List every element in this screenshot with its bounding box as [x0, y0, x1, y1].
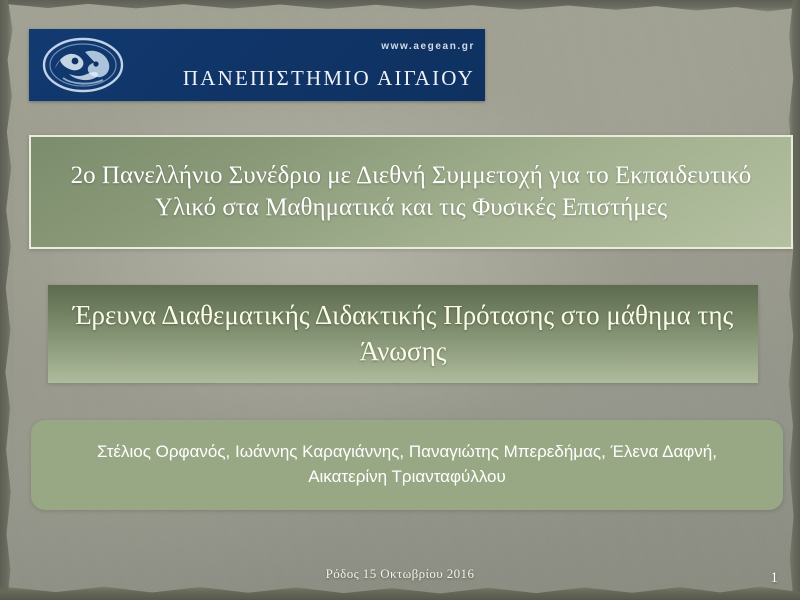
aegean-university-emblem-icon — [41, 34, 125, 96]
conference-title-text: 2ο Πανελλήνιο Συνέδριο με Διεθνή Συμμετο… — [31, 160, 791, 225]
university-wordmark: www.aegean.gr ΠΑΝΕΠΙΣΤΗΜΙΟ ΑΙΓΑΙΟΥ — [125, 29, 479, 101]
university-logo-banner: www.aegean.gr ΠΑΝΕΠΙΣΤΗΜΙΟ ΑΙΓΑΙΟΥ — [29, 29, 485, 101]
slide-number: 1 — [771, 570, 779, 587]
footer-place-date: Ρόδος 15 Οκτωβρίου 2016 — [0, 566, 800, 582]
presentation-title-box: Έρευνα Διαθεματικής Διδακτικής Πρότασης … — [48, 285, 758, 383]
university-website-url: www.aegean.gr — [381, 41, 475, 52]
university-name: ΠΑΝΕΠΙΣΤΗΜΙΟ ΑΙΓΑΙΟΥ — [183, 66, 475, 91]
authors-list-text: Στέλιος Ορφανός, Ιωάννης Καραγιάννης, Πα… — [31, 440, 783, 489]
presentation-slide: www.aegean.gr ΠΑΝΕΠΙΣΤΗΜΙΟ ΑΙΓΑΙΟΥ 2ο Πα… — [0, 0, 800, 600]
presentation-title-text: Έρευνα Διαθεματικής Διδακτικής Πρότασης … — [48, 298, 758, 369]
conference-title-box: 2ο Πανελλήνιο Συνέδριο με Διεθνή Συμμετο… — [29, 135, 793, 249]
authors-box: Στέλιος Ορφανός, Ιωάννης Καραγιάννης, Πα… — [31, 420, 783, 510]
